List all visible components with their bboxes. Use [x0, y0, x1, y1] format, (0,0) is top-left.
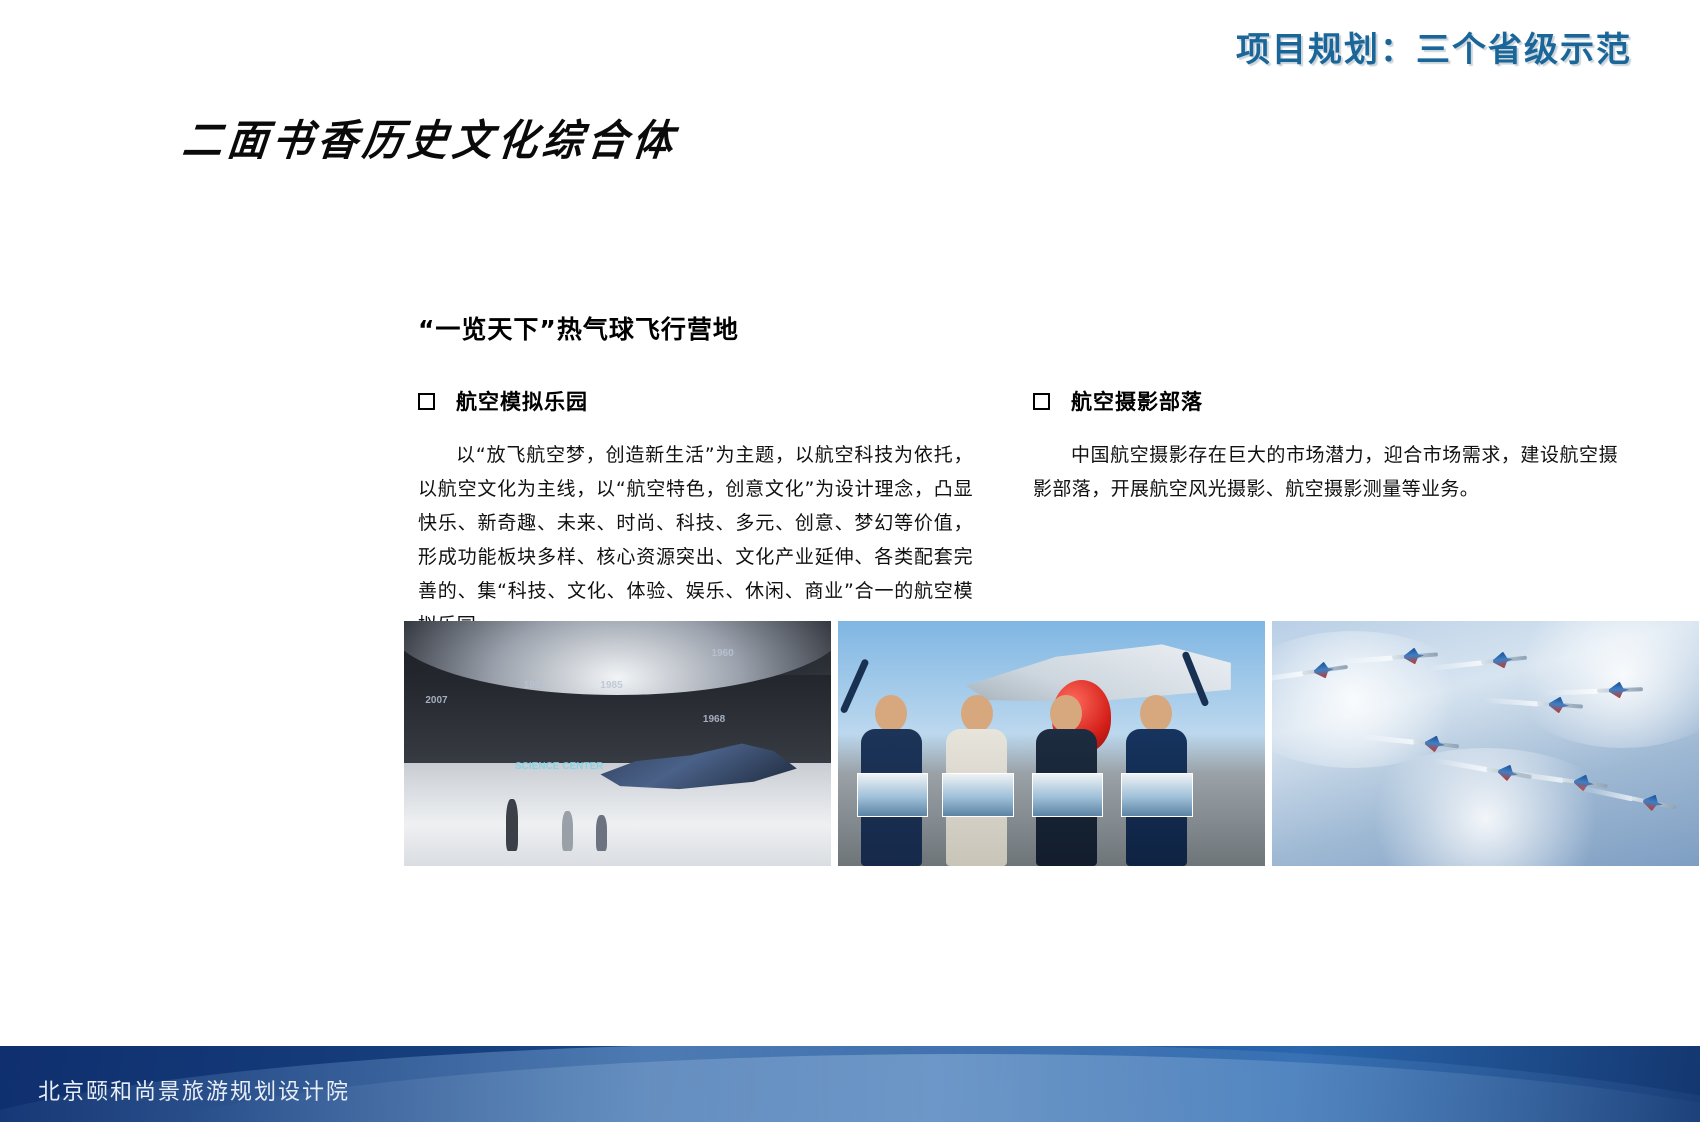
museum-year-label: 1960: [711, 648, 733, 659]
person-head: [1050, 695, 1082, 733]
brochure: [1121, 773, 1193, 816]
brochure: [857, 773, 929, 816]
content-area: “一览天下”热气球飞行营地 航空模拟乐园 以“放飞航空梦，创造新生活”为主题，以…: [418, 310, 1618, 642]
museum-visitor-figure: [506, 799, 518, 851]
aerobatic-jet: [1629, 788, 1678, 817]
footer-bar: 北京颐和尚景旅游规划设计院: [0, 1046, 1700, 1122]
page-title: 项目规划：三个省级示范: [1236, 22, 1632, 71]
footer-organization-name: 北京颐和尚景旅游规划设计院: [38, 1074, 350, 1106]
museum-year-label: 1991: [524, 680, 546, 691]
aerobatic-jet: [1536, 693, 1583, 716]
square-bullet-icon: [418, 393, 435, 410]
visitor-person: [940, 695, 1013, 867]
photo-aviation-museum-hall: 2007 1991 1985 1960 1968 SCIENCE CENTER: [404, 621, 831, 866]
aerobatic-jet: [1391, 644, 1438, 667]
visitor-person: [1030, 695, 1103, 867]
museum-visitor-figure: [562, 811, 573, 851]
visitor-person: [855, 695, 928, 867]
bullet-heading-left: 航空模拟乐园: [418, 386, 973, 416]
content-subtitle: “一览天下”热气球飞行营地: [418, 310, 1618, 346]
photo-jet-formation: [1272, 621, 1699, 866]
museum-year-label: 2007: [425, 695, 447, 706]
slide-header: 项目规划：三个省级示范: [1236, 22, 1632, 71]
raised-arm: [839, 658, 869, 714]
photo-strip: 2007 1991 1985 1960 1968 SCIENCE CENTER: [404, 621, 1699, 866]
body-paragraph-right: 中国航空摄影存在巨大的市场潜力，迎合市场需求，建设航空摄影部落，开展航空风光摄影…: [1033, 438, 1618, 506]
photo-airshow-visitors: [838, 621, 1265, 866]
bullet-heading-right-label: 航空摄影部落: [1071, 386, 1203, 416]
museum-science-center-sign: SCIENCE CENTER: [515, 761, 603, 772]
content-columns: 航空模拟乐园 以“放飞航空梦，创造新生活”为主题，以航空科技为依托，以航空文化为…: [418, 386, 1618, 642]
section-title: 二面书香历史文化综合体: [180, 106, 681, 167]
brochure: [942, 773, 1014, 816]
museum-year-label: 1985: [600, 680, 622, 691]
museum-visitor-figure: [596, 815, 607, 851]
bullet-heading-left-label: 航空模拟乐园: [456, 386, 588, 416]
aerobatic-jet: [1596, 679, 1643, 701]
brochure: [1032, 773, 1104, 816]
body-paragraph-left: 以“放飞航空梦，创造新生活”为主题，以航空科技为依托，以航空文化为主线，以“航空…: [418, 438, 973, 642]
person-head: [875, 695, 907, 733]
cloud: [1349, 748, 1622, 866]
museum-year-label: 1968: [703, 714, 725, 725]
visitor-person: [1120, 695, 1193, 867]
column-aviation-simulation-park: 航空模拟乐园 以“放飞航空梦，创造新生活”为主题，以航空科技为依托，以航空文化为…: [418, 386, 973, 642]
person-head: [961, 695, 993, 733]
bullet-heading-right: 航空摄影部落: [1033, 386, 1618, 416]
column-aviation-photography-tribe: 航空摄影部落 中国航空摄影存在巨大的市场潜力，迎合市场需求，建设航空摄影部落，开…: [1033, 386, 1618, 506]
square-bullet-icon: [1033, 393, 1050, 410]
person-head: [1140, 695, 1172, 733]
aerobatic-jet: [1412, 731, 1460, 756]
